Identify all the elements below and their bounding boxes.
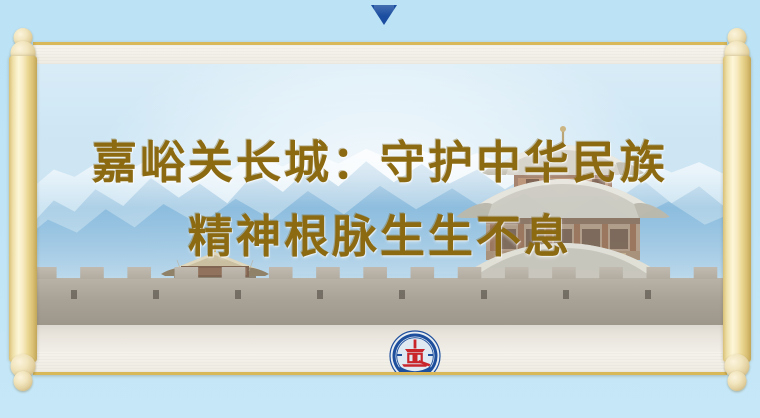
triangle-down-icon[interactable] (371, 5, 397, 25)
scroll-rod-right[interactable] (723, 28, 751, 390)
rod-finial-bottom-small-left (14, 371, 33, 391)
banner-stage: 嘉峪关长城：守护中华民族 精神根脉生生不息 (0, 0, 760, 418)
chinese-scroll-frame: 嘉峪关长城：守护中华民族 精神根脉生生不息 (0, 0, 760, 418)
paper-band-top (33, 45, 727, 64)
desert-ground (33, 325, 727, 352)
great-wall-rampart (33, 278, 727, 326)
rod-shaft-right (723, 56, 751, 362)
scroll-paper: 嘉峪关长城：守护中华民族 精神根脉生生不息 (33, 42, 727, 375)
rod-finial-bottom-small-right (728, 371, 747, 391)
hero-scene-image (33, 64, 727, 352)
wall-merlons (33, 267, 727, 279)
circular-seal-icon (389, 330, 441, 375)
rod-shaft-left (9, 56, 37, 362)
wall-arrow-slots (33, 290, 727, 299)
scroll-rod-left[interactable] (9, 28, 37, 390)
